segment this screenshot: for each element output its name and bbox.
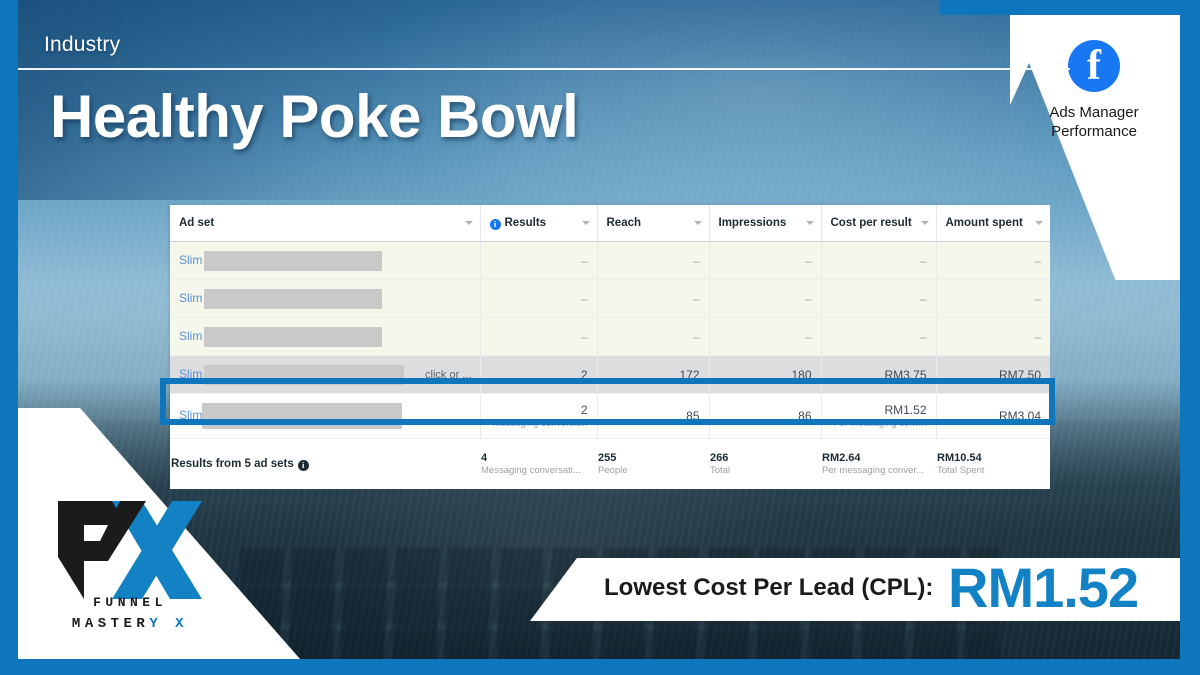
chevron-down-icon[interactable] [921,221,929,225]
cost-per-result-cell: RM3.75 [821,356,936,394]
results-cell-value: 2 [581,368,588,382]
adset-name-redaction [202,403,402,429]
eyebrow-label: Industry [44,33,120,57]
frame-border-right [1180,0,1200,675]
impressions-cell: 86 [709,394,821,439]
total-label: Results from 5 ad sets [171,458,294,470]
total-results-value: 4 [481,452,487,464]
logo-wordmark-master: MASTER [72,616,149,632]
cost-per-result-cell-sub: Per messaging conv... [831,418,927,429]
column-header-impressions[interactable]: Impressions [709,205,821,242]
adset-cell[interactable]: Slimclick or ... [170,356,480,394]
cost-per-result-cell: – [821,242,936,280]
adset-name-redaction [204,365,404,385]
results-cell: 2 [480,356,597,394]
results-cell-value: 2 [581,403,588,417]
funnel-masteryx-logo-mark [50,495,210,635]
results-cell-value: – [581,292,588,306]
results-cell: – [480,280,597,318]
total-impressions-value: 266 [710,452,728,464]
column-header-amount-spent-label: Amount spent [946,217,1023,229]
adset-cell[interactable]: Slim [170,318,480,356]
results-cell-value: – [581,330,588,344]
frame-border-left [0,0,18,675]
table-body: Slim–––––Slim–––––Slim–––––Slimclick or … [170,242,1050,439]
adset-name-prefix: Slim [179,367,202,381]
impressions-cell-value: – [805,254,812,268]
chevron-down-icon[interactable] [582,221,590,225]
reach-cell-value: – [693,292,700,306]
adset-truncated-note: click or ... [425,369,471,381]
amount-spent-cell-value: RM3.04 [999,409,1041,423]
slide-canvas: f Ads Manager Performance Industry Healt… [0,0,1200,675]
adset-cell[interactable]: Slim [170,394,480,439]
logo-wordmark-bottom: MASTERY X [42,616,218,632]
column-header-reach[interactable]: Reach [597,205,709,242]
results-cell-sub: Messaging conversa... [490,418,588,429]
badge-caption-line2: Performance [1006,122,1182,141]
reach-cell-value: – [693,254,700,268]
table-total-row: Results from 5 ad setsi 4 Messaging conv… [170,439,1050,490]
badge-caption-line1: Ads Manager [1006,103,1182,122]
page-title: Healthy Poke Bowl [50,82,578,151]
reach-cell: – [597,242,709,280]
adset-cell[interactable]: Slim [170,280,480,318]
amount-spent-cell: – [936,280,1050,318]
chevron-down-icon[interactable] [694,221,702,225]
adset-name-redaction [204,251,382,271]
table-row[interactable]: Slim––––– [170,280,1050,318]
impressions-cell: – [709,280,821,318]
header-divider [0,68,1070,70]
amount-spent-cell: – [936,318,1050,356]
logo-wordmark-yx: Y X [149,616,188,632]
total-impressions-sub: Total [710,465,820,476]
adset-cell[interactable]: Slim [170,242,480,280]
adset-name-prefix: Slim [179,253,202,267]
reach-cell-value: 85 [686,409,699,423]
reach-cell: 172 [597,356,709,394]
total-impressions-cell: 266 Total [709,439,821,490]
frame-border-bottom [0,659,1200,675]
cost-per-result-cell-value: RM1.52 [884,403,926,417]
total-results-cell: 4 Messaging conversati... [480,439,597,490]
column-header-adset[interactable]: Ad set [170,205,480,242]
results-cell-value: – [581,254,588,268]
impressions-cell: – [709,318,821,356]
adset-name-redaction [204,327,382,347]
amount-spent-cell-value: – [1034,330,1041,344]
total-amount-spent-sub: Total Spent [937,465,1049,476]
cost-per-result-cell-value: – [920,292,927,306]
adset-name-prefix: Slim [179,291,202,305]
column-header-cost-per-result[interactable]: Cost per result [821,205,936,242]
cost-per-result-cell-value: – [920,330,927,344]
badge-caption: Ads Manager Performance [1006,103,1182,141]
table-header-row: Ad set iResults Reach Impressions [170,205,1050,242]
column-header-impressions-label: Impressions [719,217,787,229]
reach-cell: – [597,280,709,318]
amount-spent-cell: RM7.50 [936,356,1050,394]
table-row[interactable]: Slim––––– [170,242,1050,280]
impressions-cell-value: 86 [798,409,811,423]
impressions-cell-value: – [805,292,812,306]
column-header-adset-label: Ad set [179,217,214,229]
reach-cell-value: – [693,330,700,344]
facebook-f-glyph: f [1068,40,1120,92]
adset-name-prefix: Slim [179,329,202,343]
reach-cell: 85 [597,394,709,439]
cost-per-result-cell: – [821,318,936,356]
total-label-cell: Results from 5 ad setsi [170,439,480,490]
impressions-cell: 180 [709,356,821,394]
logo-wordmark-top: FUNNEL [50,595,210,610]
total-amount-spent-value: RM10.54 [937,452,982,464]
total-reach-value: 255 [598,452,616,464]
info-icon: i [490,219,501,230]
results-cell: 2Messaging conversa... [480,394,597,439]
reach-cell-value: 172 [679,368,699,382]
table-row[interactable]: Slim2Messaging conversa...8586RM1.52Per … [170,394,1050,439]
impressions-cell-value: 180 [791,368,811,382]
table-row[interactable]: Slimclick or ...2172180RM3.75RM7.50 [170,356,1050,394]
cost-per-result-cell-value: – [920,254,927,268]
total-cost-per-result-cell: RM2.64 Per messaging conver... [821,439,936,490]
column-header-results[interactable]: iResults [480,205,597,242]
chevron-down-icon[interactable] [1035,221,1043,225]
cpl-label: Lowest Cost Per Lead (CPL): [604,574,933,602]
column-header-amount-spent[interactable]: Amount spent [936,205,1050,242]
results-cell: – [480,242,597,280]
column-header-cost-per-result-label: Cost per result [831,217,912,229]
cost-per-result-cell: – [821,280,936,318]
total-cost-per-result-sub: Per messaging conver... [822,465,935,476]
info-icon[interactable]: i [298,460,309,471]
table-row[interactable]: Slim––––– [170,318,1050,356]
cost-per-result-cell-value: RM3.75 [884,368,926,382]
ads-manager-table: Ad set iResults Reach Impressions [170,205,1030,473]
total-amount-spent-cell: RM10.54 Total Spent [936,439,1050,490]
amount-spent-cell-value: – [1034,254,1041,268]
reach-cell: – [597,318,709,356]
facebook-icon: f [1068,40,1120,92]
amount-spent-cell: RM3.04 [936,394,1050,439]
column-header-results-label: Results [505,217,547,229]
amount-spent-cell-value: – [1034,292,1041,306]
column-header-reach-label: Reach [607,217,642,229]
amount-spent-cell-value: RM7.50 [999,368,1041,382]
impressions-cell-value: – [805,330,812,344]
total-reach-cell: 255 People [597,439,709,490]
impressions-cell: – [709,242,821,280]
total-results-sub: Messaging conversati... [481,465,596,476]
frame-border-top-right [940,0,1200,15]
amount-spent-cell: – [936,242,1050,280]
results-cell: – [480,318,597,356]
adset-name-redaction [204,289,382,309]
cpl-value: RM1.52 [948,555,1138,620]
total-cost-per-result-value: RM2.64 [822,452,861,464]
chevron-down-icon[interactable] [465,221,473,225]
adset-name-prefix: Slim [179,408,202,422]
total-reach-sub: People [598,465,708,476]
chevron-down-icon[interactable] [806,221,814,225]
cost-per-result-cell: RM1.52Per messaging conv... [821,394,936,439]
